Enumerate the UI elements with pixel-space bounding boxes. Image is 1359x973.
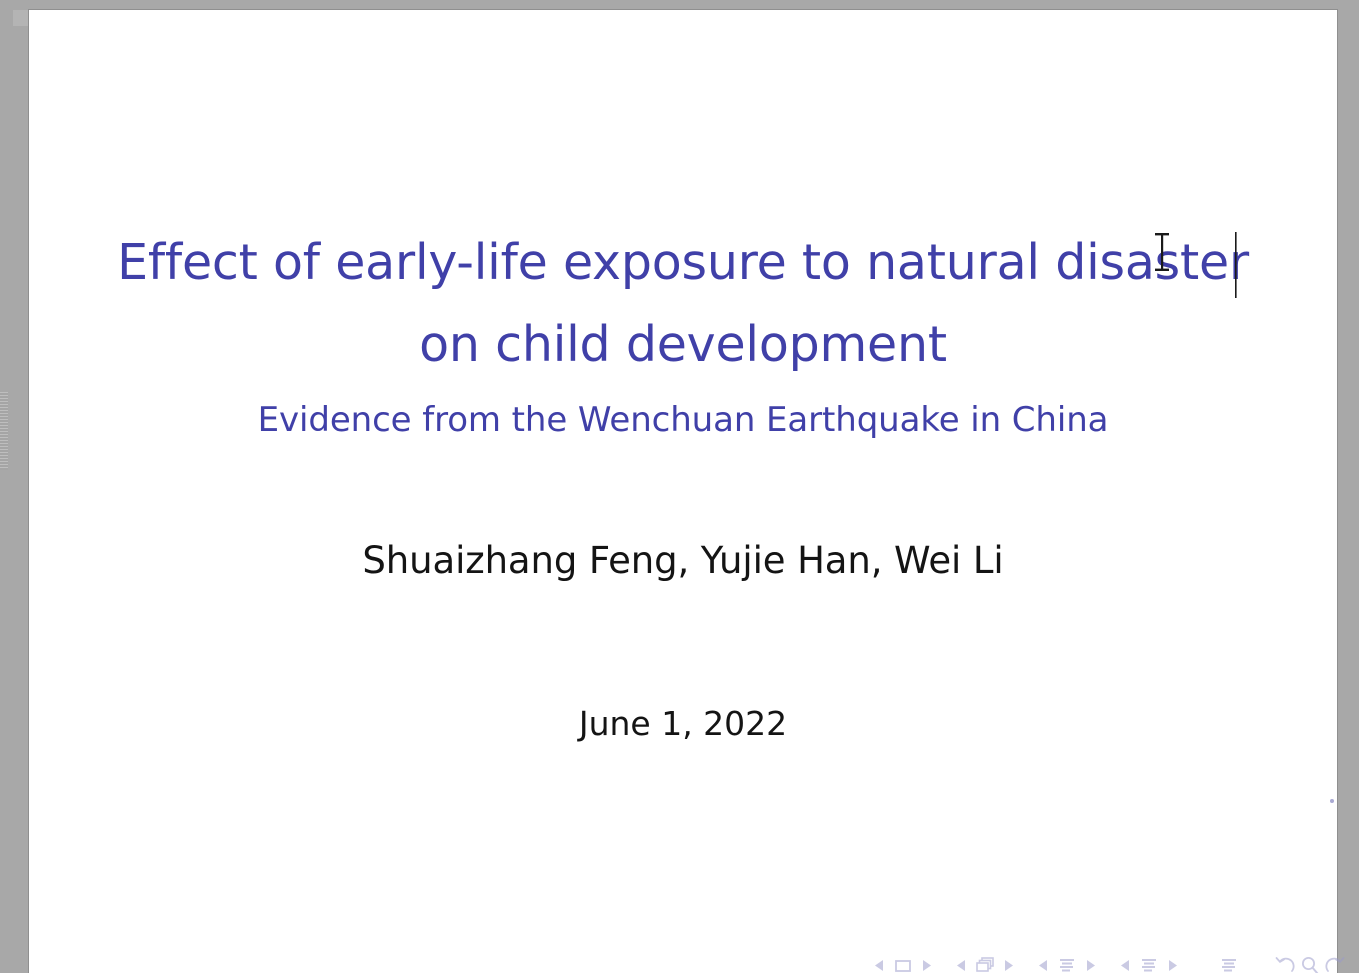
beamer-navigation-bar xyxy=(874,951,1346,973)
pdf-viewer-window: Effect of early-life exposure to natural… xyxy=(0,0,1359,973)
mouse-cursor-ibeam xyxy=(1152,232,1172,272)
window-chrome-left xyxy=(0,0,13,973)
section-icon[interactable] xyxy=(1138,956,1160,973)
prev-slide-icon[interactable] xyxy=(874,959,885,972)
prev-frame-icon[interactable] xyxy=(956,959,967,972)
subsection-icon[interactable] xyxy=(1056,956,1078,973)
slide-content: Effect of early-life exposure to natural… xyxy=(29,10,1337,973)
slide-subtitle: Evidence from the Wenchuan Earthquake in… xyxy=(29,400,1337,440)
page-border-right xyxy=(1337,9,1338,973)
slide-date: June 1, 2022 xyxy=(29,704,1337,743)
slide-title-line-1: Effect of early-life exposure to natural… xyxy=(29,238,1337,287)
nav-group-section xyxy=(1120,956,1178,973)
next-slide-icon[interactable] xyxy=(921,959,932,972)
back-icon[interactable] xyxy=(1274,955,1298,973)
search-icon[interactable] xyxy=(1298,955,1322,973)
slide-icon[interactable] xyxy=(892,956,914,973)
nav-group-frame xyxy=(956,956,1014,973)
nav-group-subsection xyxy=(1038,956,1096,973)
slide-title-line-2: on child development xyxy=(29,320,1337,369)
pdf-page: Effect of early-life exposure to natural… xyxy=(29,10,1337,973)
next-frame-icon[interactable] xyxy=(1003,959,1014,972)
window-chrome-corner xyxy=(13,10,29,26)
presentation-icon[interactable] xyxy=(1218,956,1240,973)
forward-icon[interactable] xyxy=(1322,955,1346,973)
window-chrome-right xyxy=(1339,0,1359,973)
slide-authors: Shuaizhang Feng, Yujie Han, Wei Li xyxy=(29,539,1337,582)
next-subsection-icon[interactable] xyxy=(1085,959,1096,972)
prev-subsection-icon[interactable] xyxy=(1038,959,1049,972)
frame-icon[interactable] xyxy=(974,956,996,973)
prev-section-icon[interactable] xyxy=(1120,959,1131,972)
nav-group-slide xyxy=(874,956,932,973)
scroll-marker[interactable] xyxy=(0,392,8,470)
page-edge-dot xyxy=(1330,799,1334,803)
text-caret xyxy=(1234,232,1238,298)
next-section-icon[interactable] xyxy=(1167,959,1178,972)
